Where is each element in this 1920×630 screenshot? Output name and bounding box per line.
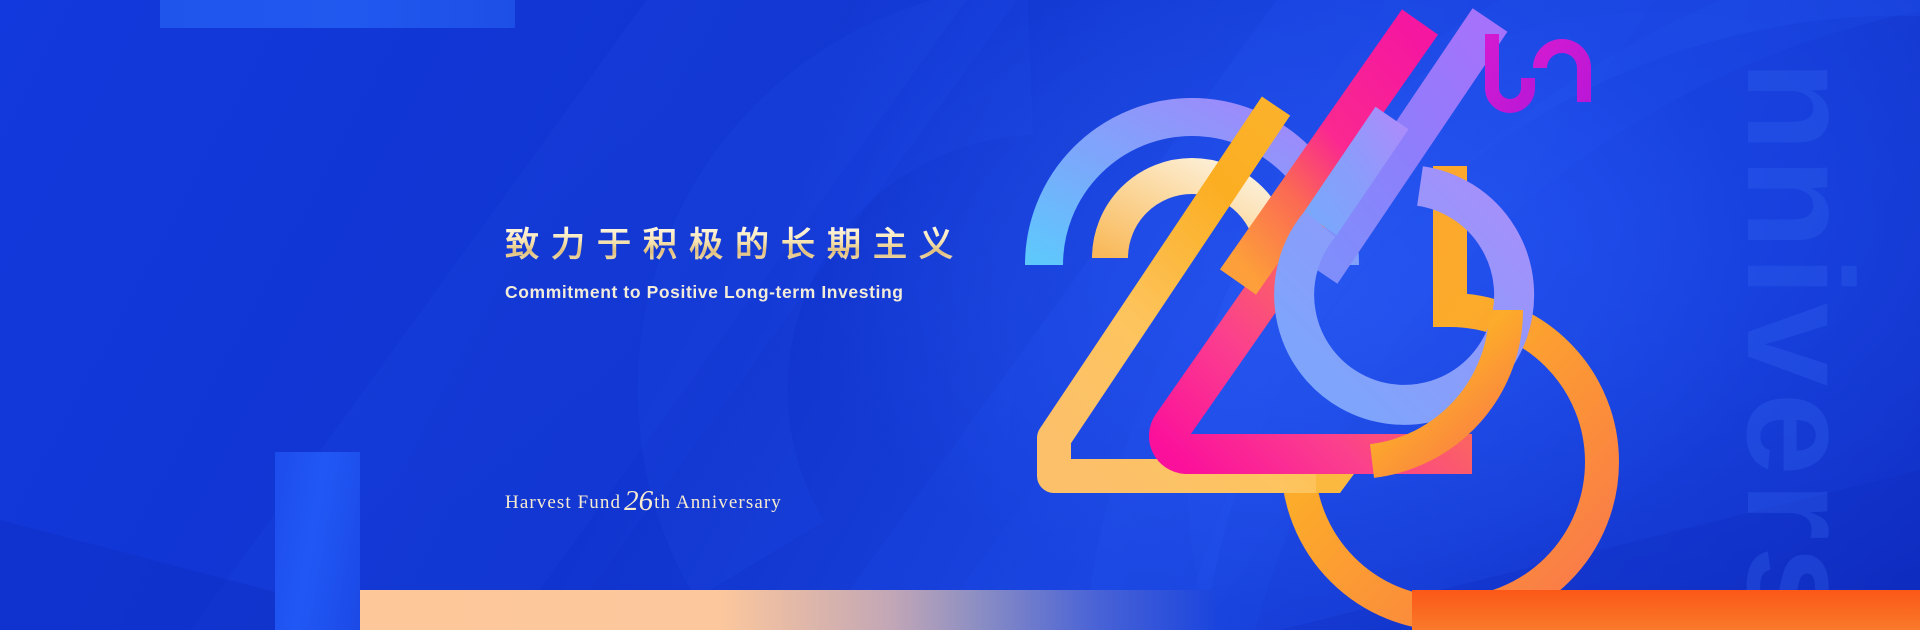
- anniversary-logo: [1020, 10, 1580, 535]
- bottom-gradient-bar: [360, 590, 1215, 630]
- bottom-orange-bar: [1412, 590, 1920, 630]
- headline-block: 致力于积极的长期主义 Commitment to Positive Long-t…: [505, 225, 1025, 303]
- anniversary-banner: nniversar: [0, 0, 1920, 630]
- signature-suffix: th Anniversary: [654, 492, 782, 514]
- signature-line: Harvest Fund 26 th Anniversary: [505, 483, 782, 516]
- top-accent-bar: [160, 0, 515, 28]
- logo-th-suffix: [1478, 22, 1584, 106]
- headline-chinese: 致力于积极的长期主义: [505, 225, 1025, 268]
- logo-26-graphic: [1020, 10, 1580, 535]
- headline-english: Commitment to Positive Long-term Investi…: [505, 282, 1025, 303]
- left-accent-column: [275, 452, 360, 630]
- signature-number: 26: [624, 485, 653, 518]
- signature-prefix: Harvest Fund: [505, 492, 621, 514]
